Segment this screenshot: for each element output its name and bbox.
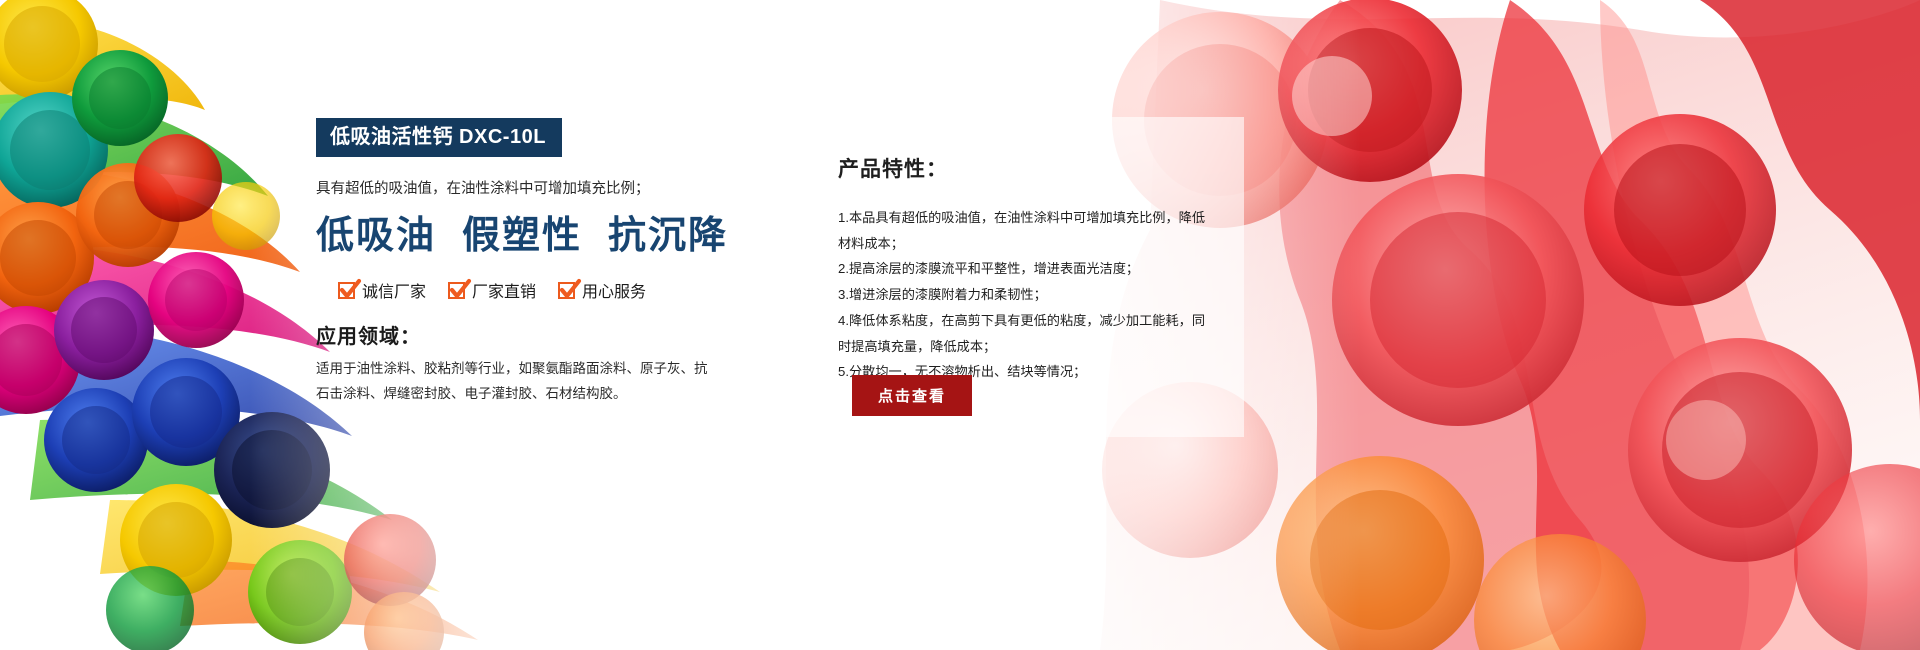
banner-stage: 低吸油活性钙 DXC-10L 具有超低的吸油值，在油性涂料中可增加填充比例； 低… [0, 0, 1920, 650]
hero-copy-block: 低吸油活性钙 DXC-10L 具有超低的吸油值，在油性涂料中可增加填充比例； 低… [316, 118, 736, 407]
checkbox-checked-icon [338, 282, 355, 299]
headline-part-2: 假塑性 [462, 215, 582, 257]
feature-item: 4.降低体系粘度，在高剪下具有更低的粘度，减少加工能耗，同时提高填充量，降低成本… [838, 308, 1214, 359]
product-subtitle: 具有超低的吸油值，在油性涂料中可增加填充比例； [316, 179, 736, 201]
features-panel-inner: 产品特性： 1.本品具有超低的吸油值，在油性涂料中可增加填充比例，降低材料成本；… [802, 117, 1244, 385]
trust-badge-direct-sales: 厂家直销 [448, 278, 536, 302]
product-title-badge: 低吸油活性钙 DXC-10L [316, 118, 562, 157]
trust-badge-honest-manufacturer: 诚信厂家 [338, 278, 426, 302]
features-list: 1.本品具有超低的吸油值，在油性涂料中可增加填充比例，降低材料成本； 2.提高涂… [838, 205, 1214, 385]
features-heading: 产品特性： [838, 153, 1214, 183]
trust-badge-label: 用心服务 [582, 278, 646, 302]
trust-badge-label: 诚信厂家 [362, 278, 426, 302]
trust-badge-attentive-service: 用心服务 [558, 278, 646, 302]
feature-item: 3.增进涂层的漆膜附着力和柔韧性； [838, 282, 1214, 308]
headline-part-1: 低吸油 [316, 215, 436, 257]
headline: 低吸油假塑性抗沉降 [316, 215, 736, 259]
feature-item: 1.本品具有超低的吸油值，在油性涂料中可增加填充比例，降低材料成本； [838, 205, 1214, 256]
view-details-button[interactable]: 点击查看 [852, 375, 972, 416]
trust-badge-row: 诚信厂家 厂家直销 用心服务 [316, 278, 736, 302]
application-body: 适用于油性涂料、胶粘剂等行业，如聚氨酯路面涂料、原子灰、抗石击涂料、焊缝密封胶、… [316, 357, 716, 407]
feature-item: 2.提高涂层的漆膜流平和平整性，增进表面光洁度； [838, 256, 1214, 282]
trust-badge-label: 厂家直销 [472, 278, 536, 302]
headline-part-3: 抗沉降 [608, 215, 728, 257]
checkbox-checked-icon [558, 282, 575, 299]
checkbox-checked-icon [448, 282, 465, 299]
application-heading: 应用领域： [316, 320, 736, 349]
